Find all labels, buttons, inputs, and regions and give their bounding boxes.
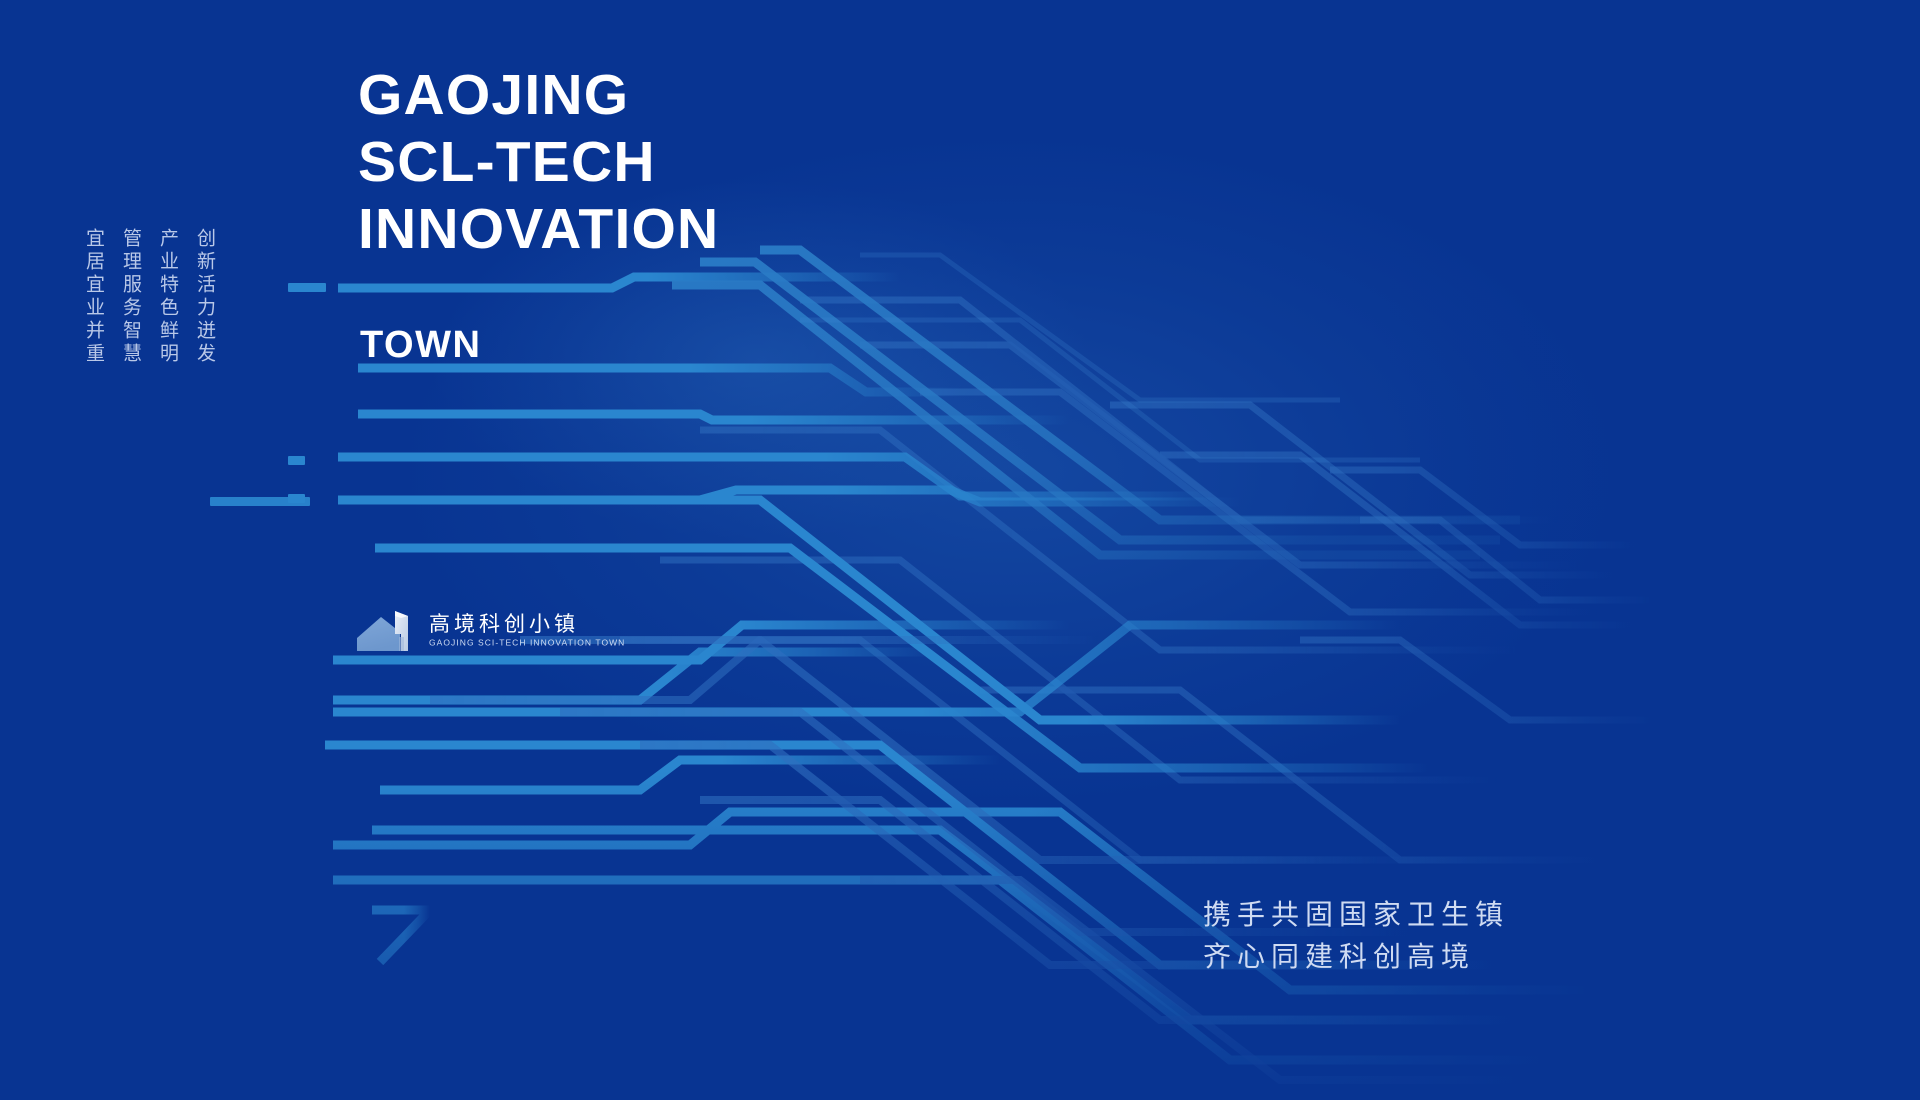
logo-chinese-name: 高境科创小镇	[429, 612, 625, 637]
logo-english-name: GAOJING SCI-TECH INNOVATION TOWN	[429, 637, 625, 649]
vertical-slogan-1: 创新活力迸发	[193, 228, 216, 366]
poster-canvas: GAOJING SCL-TECH INNOVATION TOWN 创新活力迸发 …	[0, 0, 1920, 1100]
circuit-trace-background	[0, 0, 1920, 1100]
bottom-slogan-line-2: 齐心同建科创高境	[1203, 936, 1509, 978]
page-title: GAOJING SCL-TECH INNOVATION	[358, 62, 719, 263]
house-building-icon	[355, 607, 417, 655]
bottom-slogan-group: 携手共固国家卫生镇 齐心同建科创高境	[1203, 894, 1509, 978]
vertical-slogan-group: 创新活力迸发 产业特色鲜明 管理服务智慧 宜居宜业并重	[82, 228, 216, 366]
logo-text-group: 高境科创小镇 GAOJING SCI-TECH INNOVATION TOWN	[429, 612, 625, 650]
title-line-scl-tech: SCL-TECH	[358, 129, 719, 196]
vertical-slogan-3: 管理服务智慧	[119, 228, 142, 366]
title-line-gaojing: GAOJING	[358, 62, 719, 129]
title-line-town: TOWN	[360, 323, 481, 367]
vertical-slogan-4: 宜居宜业并重	[82, 228, 105, 366]
vertical-slogan-2: 产业特色鲜明	[156, 228, 179, 366]
logo-lockup: 高境科创小镇 GAOJING SCI-TECH INNOVATION TOWN	[355, 607, 625, 655]
title-line-innovation: INNOVATION	[358, 196, 719, 263]
bottom-slogan-line-1: 携手共固国家卫生镇	[1203, 894, 1509, 936]
